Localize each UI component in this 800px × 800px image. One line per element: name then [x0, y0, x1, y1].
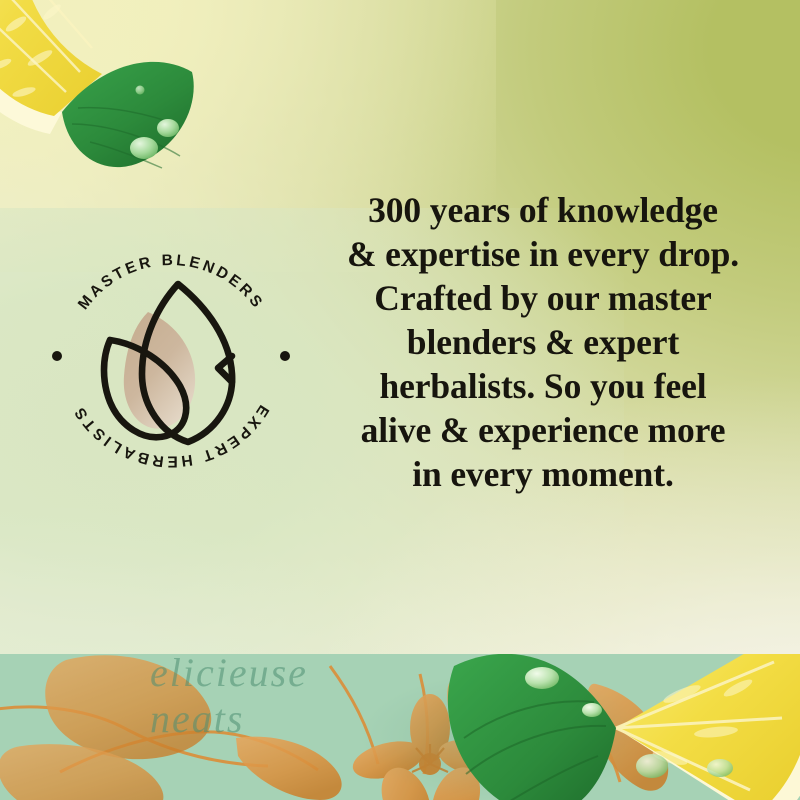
headline-line-3: Crafted by our master: [312, 276, 774, 320]
master-blenders-seal-badge: MASTER BLENDERS EXPERT HERBALISTS: [42, 236, 300, 494]
bottom-botanical-band: elicieuse neats: [0, 654, 800, 800]
badge-separator-dot-right: [280, 351, 290, 361]
badge-top-arc-text: MASTER BLENDERS: [75, 252, 267, 313]
lemon-slice-with-leaf-icon: [0, 0, 204, 179]
headline-line-4: blenders & expert: [312, 320, 774, 364]
badge-separator-dot-left: [52, 351, 62, 361]
headline-line-7: in every moment.: [312, 452, 774, 496]
headline-line-2: & expertise in every drop.: [312, 232, 774, 276]
headline-line-6: alive & experience more: [312, 408, 774, 452]
headline-line-1: 300 years of knowledge: [312, 188, 774, 232]
brand-panel: MASTER BLENDERS EXPERT HERBALISTS 300 ye…: [0, 0, 800, 800]
lemon-wedge-with-leaf-icon: [420, 654, 800, 800]
headline-copy: 300 years of knowledge & expertise in ev…: [312, 188, 774, 496]
headline-line-5: herbalists. So you feel: [312, 364, 774, 408]
